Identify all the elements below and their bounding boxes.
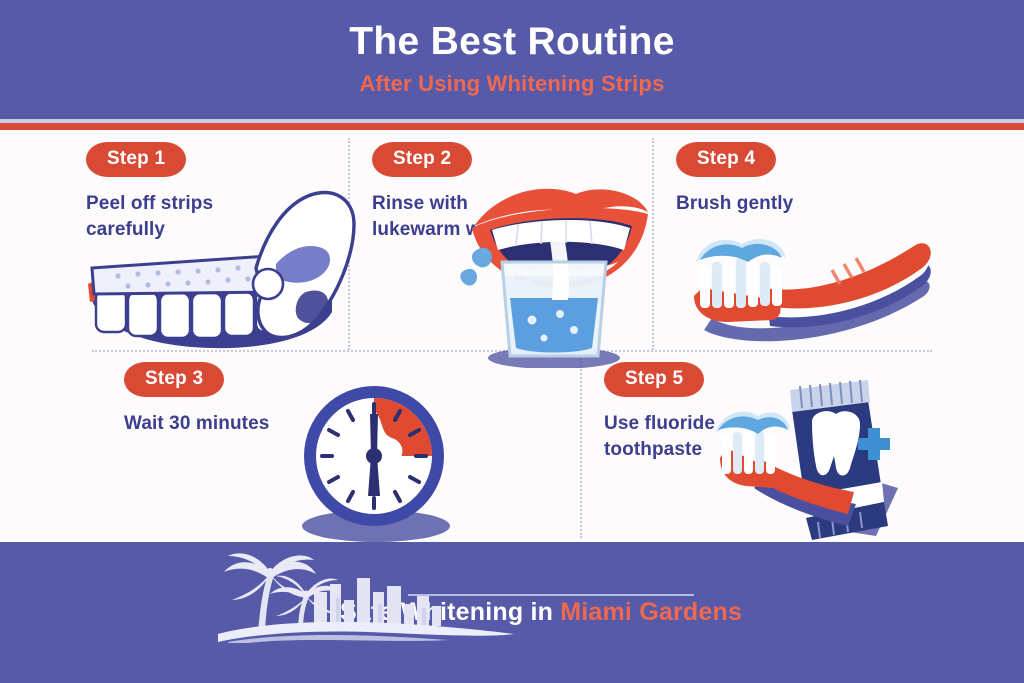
mouth-and-water-glass-icon: [456, 168, 656, 373]
toothbrush-icon: [672, 226, 942, 356]
grid-vertical-divider-3: [580, 358, 582, 538]
toothpaste-tube-and-brush-icon: [716, 376, 936, 547]
step-card-4: Step 4 Brush gently: [676, 142, 793, 217]
step-badge-3: Step 3: [124, 362, 224, 397]
steps-grid: Step 1 Peel off strips carefully: [0, 130, 1024, 542]
page-subtitle: After Using Whitening Strips: [359, 71, 664, 97]
step-label-3: Wait 30 minutes: [124, 411, 269, 437]
footer-city-name: Miami Gardens: [560, 598, 742, 626]
infographic-poster: The Best Routine After Using Whitening S…: [0, 0, 1024, 683]
poster-header: The Best Routine After Using Whitening S…: [0, 0, 1024, 119]
page-title: The Best Routine: [349, 22, 674, 63]
clock-icon: [288, 380, 468, 550]
header-orange-rule: [0, 123, 1024, 130]
step-label-4: Brush gently: [676, 191, 793, 217]
step-badge-5: Step 5: [604, 362, 704, 397]
step-badge-4: Step 4: [676, 142, 776, 177]
palm-trees-skyline-waves-icon: [218, 548, 518, 648]
teeth-with-whitening-strip-and-hand-icon: [70, 172, 360, 362]
step-card-3: Step 3 Wait 30 minutes: [124, 362, 269, 437]
